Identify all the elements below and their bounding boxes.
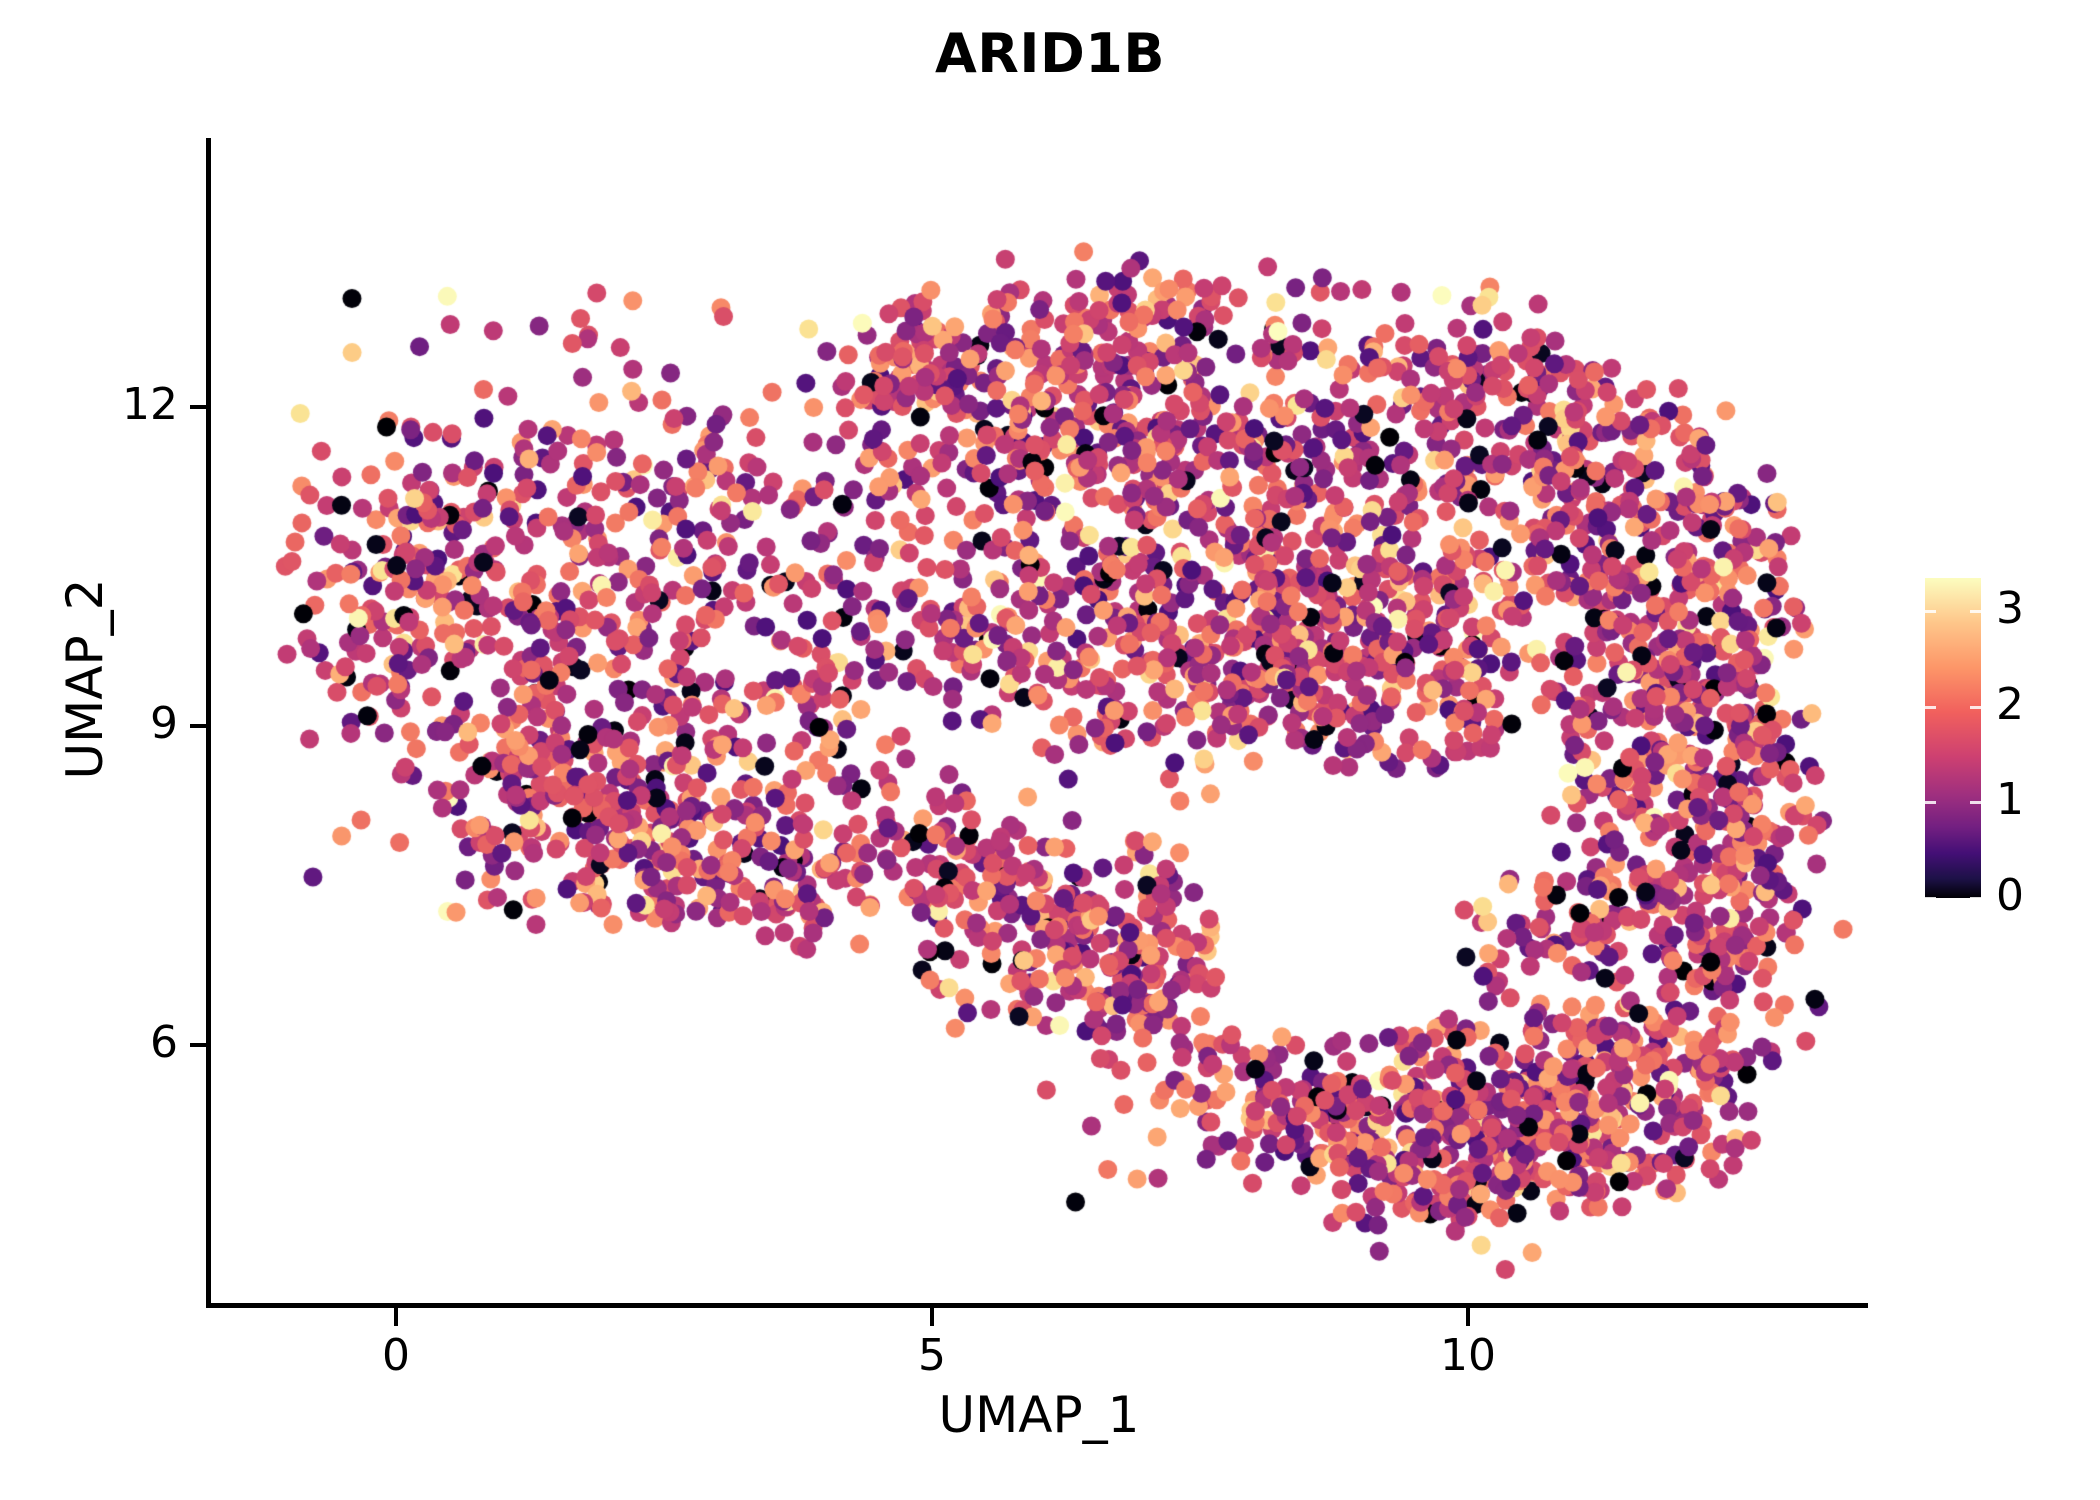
- colorbar-tick-label: 3: [1996, 587, 2086, 631]
- x-axis-label: UMAP_1: [210, 1386, 1868, 1444]
- colorbar-tick-label: 2: [1996, 683, 2086, 727]
- y-tick-mark: [190, 405, 206, 409]
- x-axis-spine: [206, 1303, 1868, 1308]
- colorbar-tick-mark: [1925, 897, 1936, 900]
- colorbar-tick-mark: [1970, 706, 1981, 709]
- x-tick-mark: [394, 1308, 398, 1326]
- colorbar-tick-mark: [1925, 610, 1936, 613]
- scatter-points-layer: [0, 0, 2100, 1500]
- y-tick-mark: [190, 724, 206, 728]
- page-title: ARID1B: [0, 22, 2100, 85]
- colorbar-tick-mark: [1970, 897, 1981, 900]
- figure-canvas: ARID1B 1296 0510 UMAP_1 UMAP_2 3210: [0, 0, 2100, 1500]
- colorbar-tick-mark: [1925, 801, 1936, 804]
- x-tick-label: 0: [316, 1334, 476, 1378]
- y-axis-spine: [206, 138, 211, 1308]
- y-axis-label: UMAP_2: [56, 329, 114, 1029]
- x-tick-label: 5: [852, 1334, 1012, 1378]
- colorbar-tick-mark: [1970, 610, 1981, 613]
- colorbar-tick-label: 0: [1996, 874, 2086, 918]
- colorbar-tick-mark: [1970, 801, 1981, 804]
- colorbar-tick-label: 1: [1996, 778, 2086, 822]
- x-tick-mark: [1466, 1308, 1470, 1326]
- x-tick-mark: [930, 1308, 934, 1326]
- colorbar-tick-mark: [1925, 706, 1936, 709]
- y-tick-mark: [190, 1043, 206, 1047]
- colorbar-gradient: [1925, 578, 1981, 898]
- x-tick-label: 10: [1388, 1334, 1548, 1378]
- colorbar: [1925, 578, 1981, 898]
